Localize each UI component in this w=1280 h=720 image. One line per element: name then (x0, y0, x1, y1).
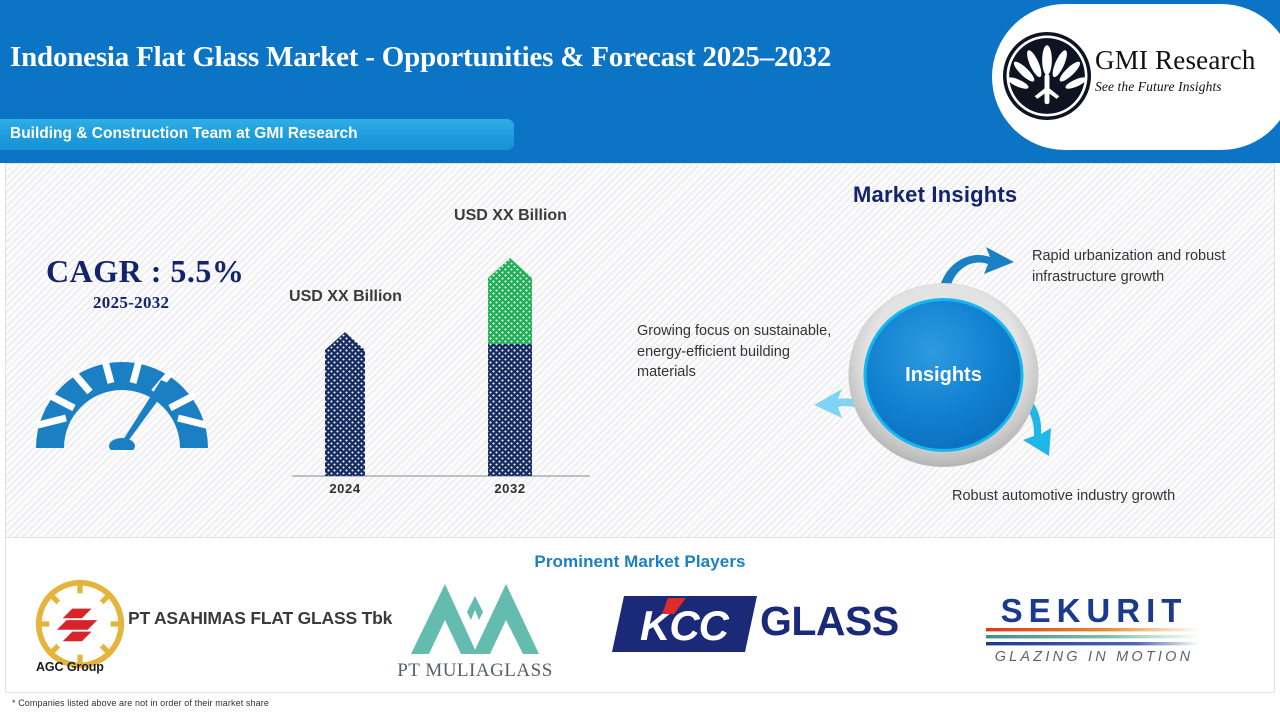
insight-text-top: Rapid urbanization and robust infrastruc… (1032, 246, 1264, 287)
logo-sekurit-name: SEKURIT (980, 592, 1208, 630)
insight-text-left: Growing focus on sustainable, energy-eff… (637, 321, 852, 383)
logo-muliaglass-name: PT MULIAGLASS (385, 660, 565, 682)
kcc-badge-icon: KCC (612, 594, 757, 654)
cagr-value: CAGR : 5.5% (46, 253, 244, 290)
insights-hub-circle (846, 280, 1041, 470)
brand-text: GMI Research See the Future Insights (1095, 47, 1270, 95)
gmi-palm-logo-icon (1003, 32, 1091, 120)
logo-kcc-glass: KCC GLASS (612, 592, 912, 654)
header-band: Indonesia Flat Glass Market - Opportunit… (0, 0, 1280, 163)
logo-muliaglass: PT MULIAGLASS (385, 582, 565, 682)
market-players-title: Prominent Market Players (0, 552, 1280, 572)
logo-asahimas: PT ASAHIMAS FLAT GLASS Tbk AGC Group (20, 576, 380, 681)
logo-sekurit: SEKURIT GLAZING IN MOTION (980, 592, 1208, 664)
subtitle-tab: Building & Construction Team at GMI Rese… (0, 119, 514, 150)
brand-name: GMI Research (1095, 47, 1270, 74)
insight-text-bottom: Robust automotive industry growth (952, 486, 1252, 507)
sekurit-lines-icon (980, 628, 1208, 650)
market-insights-title: Market Insights (853, 182, 1017, 208)
svg-text:KCC: KCC (640, 602, 730, 649)
cagr-period: 2025-2032 (93, 293, 169, 313)
logo-kcc-glass-word: GLASS (760, 598, 899, 645)
page-title: Indonesia Flat Glass Market - Opportunit… (10, 41, 831, 74)
x-tick-2032: 2032 (469, 481, 551, 496)
logo-asahimas-sub: AGC Group (36, 660, 104, 674)
speedometer-gauge-icon (22, 340, 222, 450)
mulia-m-icon (409, 582, 541, 656)
bar-label-2032: USD XX Billion (443, 206, 578, 226)
logo-asahimas-name: PT ASAHIMAS FLAT GLASS Tbk (128, 608, 392, 629)
forecast-bar-chart: USD XX Billion USD XX Billion 2024 2032 (288, 190, 598, 500)
footnote-disclaimer: * Companies listed above are not in orde… (12, 698, 269, 708)
brand-tagline: See the Future Insights (1095, 79, 1270, 95)
x-tick-2024: 2024 (304, 481, 386, 496)
bar-value-2024: USD XX Billion (289, 288, 402, 305)
bar-label-2024: USD XX Billion (278, 287, 413, 307)
footer-divider (5, 692, 1275, 693)
agc-wheel-icon (32, 576, 128, 672)
subtitle-tab-label: Building & Construction Team at GMI Rese… (10, 125, 358, 143)
bar-value-2032: USD XX Billion (454, 207, 567, 224)
logo-sekurit-tagline: GLAZING IN MOTION (980, 649, 1208, 665)
infographic-page: Indonesia Flat Glass Market - Opportunit… (0, 0, 1280, 720)
